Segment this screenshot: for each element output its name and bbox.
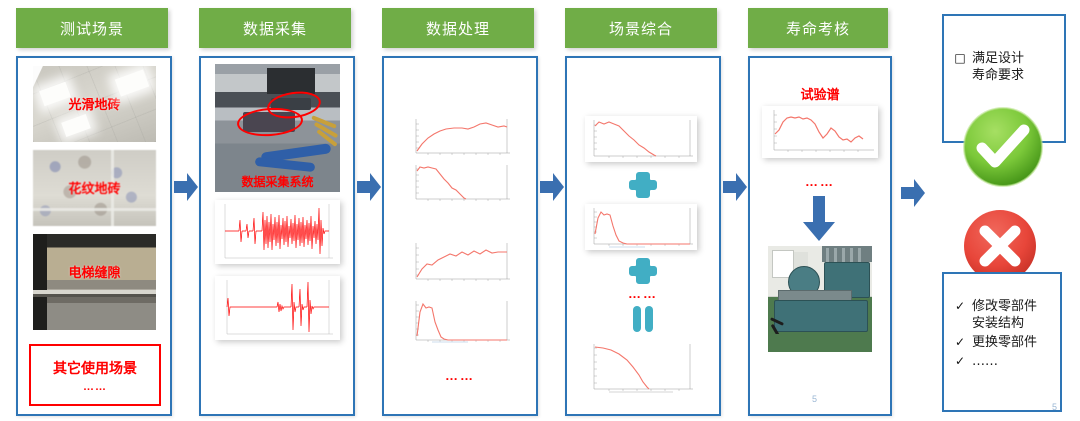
photo-caption: 花纹地砖 <box>33 178 156 197</box>
photo-patterned-tile: 花纹地砖 <box>33 150 156 226</box>
column-header-data-acquisition: 数据采集 <box>199 8 351 48</box>
result-fail-item: ✓ 修改零部件 安装结构 <box>954 298 1060 332</box>
chart-syn-2 <box>585 204 697 250</box>
result-fail-text: 更换零部件 <box>972 334 1037 351</box>
checkbox-square-icon: □ <box>954 50 966 67</box>
chart-test-spectrum <box>762 106 878 158</box>
other-scenarios-title: 其它使用场景 <box>53 358 137 378</box>
slide-page-number: 5 <box>1052 402 1057 412</box>
column-header-label: 数据采集 <box>243 18 307 39</box>
other-scenarios-dots: …… <box>83 381 107 393</box>
chart-proc-1 <box>406 116 514 158</box>
result-fail-text: 修改零部件 安装结构 <box>972 298 1037 332</box>
equals-icon <box>629 306 657 332</box>
down-arrow-icon <box>802 196 836 242</box>
check-circle-icon <box>962 106 1044 188</box>
flow-arrow-4 <box>722 172 748 202</box>
column-body-scenario-synthesis: …… <box>565 56 721 416</box>
chart-vibration-burst-1 <box>215 200 340 264</box>
chart-syn-1 <box>585 116 697 162</box>
column-body-data-acquisition: 数据采集系统 <box>199 56 355 416</box>
result-pass-line: □ 满足设计 寿命要求 <box>954 50 1064 84</box>
slide-page-number-left: 5 <box>812 394 817 404</box>
photo-daq-system: 数据采集系统 <box>215 64 340 192</box>
photo-caption: 数据采集系统 <box>215 173 340 190</box>
chart-proc-4 <box>406 298 514 346</box>
result-fail-item: ✓ 更换零部件 <box>954 334 1060 351</box>
check-mark-icon: ✓ <box>954 298 966 315</box>
plus-icon-1 <box>629 170 657 198</box>
column-header-test-scenario: 测试场景 <box>16 8 168 48</box>
scenario-synthesis-dots: …… <box>567 286 719 301</box>
flow-arrow-5 <box>900 178 926 208</box>
check-mark-icon: ✓ <box>954 353 966 370</box>
test-spectrum-label: 试验谱 <box>750 84 890 103</box>
flow-arrow-3 <box>539 172 565 202</box>
column-body-data-processing: …… <box>382 56 538 416</box>
annotation-ellipse-tablet <box>236 106 304 139</box>
flow-arrow-2 <box>356 172 382 202</box>
photo-shaker-machine <box>768 246 872 352</box>
column-header-data-processing: 数据处理 <box>382 8 534 48</box>
plus-icon-2 <box>629 256 657 284</box>
life-assessment-dots: …… <box>750 174 890 189</box>
column-header-label: 数据处理 <box>426 18 490 39</box>
column-header-label: 寿命考核 <box>786 18 850 39</box>
check-mark-icon: ✓ <box>954 334 966 351</box>
photo-smooth-tile: 光滑地砖 <box>33 66 156 142</box>
column-body-life-assessment: 试验谱 …… <box>748 56 892 416</box>
flowchart-stage: 测试场景 光滑地砖 花纹地砖 电梯缝隙 其它使用场景 …… 数据采集 <box>0 0 1080 421</box>
data-processing-dots: …… <box>384 368 536 383</box>
other-scenarios-box: 其它使用场景 …… <box>29 344 161 406</box>
result-fail-box: ✓ 修改零部件 安装结构 ✓ 更换零部件 ✓ …… <box>942 272 1062 412</box>
chart-proc-3 <box>406 240 514 284</box>
chart-proc-2 <box>406 162 514 204</box>
chart-syn-result <box>585 340 697 396</box>
result-fail-dots: …… <box>972 353 998 370</box>
column-header-life-assessment: 寿命考核 <box>748 8 888 48</box>
column-header-scenario-synthesis: 场景综合 <box>565 8 717 48</box>
column-header-label: 场景综合 <box>609 18 673 39</box>
photo-caption: 电梯缝隙 <box>33 262 156 281</box>
result-pass-text: 满足设计 寿命要求 <box>972 50 1024 84</box>
column-body-test-scenario: 光滑地砖 花纹地砖 电梯缝隙 其它使用场景 …… <box>16 56 172 416</box>
column-header-label: 测试场景 <box>60 18 124 39</box>
photo-caption: 光滑地砖 <box>33 94 156 113</box>
chart-vibration-burst-2 <box>215 276 340 340</box>
result-fail-item: ✓ …… <box>954 353 1060 370</box>
photo-elevator-gap: 电梯缝隙 <box>33 234 156 330</box>
flow-arrow-1 <box>173 172 199 202</box>
